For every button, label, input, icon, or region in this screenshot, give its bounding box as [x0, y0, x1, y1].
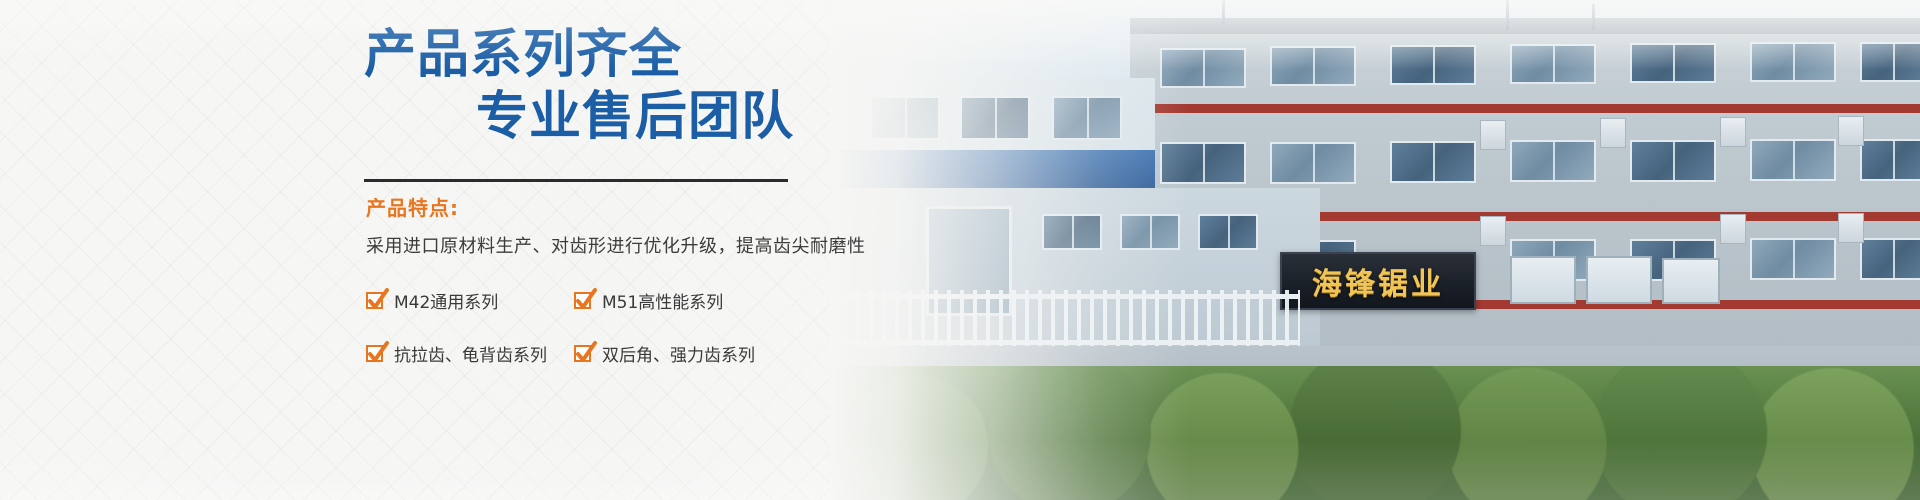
window	[1390, 45, 1476, 85]
air-conditioner-unit	[1720, 214, 1746, 244]
window	[1160, 142, 1246, 184]
list-item-label: 抗拉齿、龟背齿系列	[394, 341, 547, 366]
air-conditioner-unit	[1480, 216, 1506, 246]
checkbox-checked-icon	[574, 292, 591, 309]
list-item: M51高性能系列	[574, 288, 796, 313]
rooftop-pole	[1222, 0, 1225, 24]
notice-board	[1510, 256, 1576, 304]
divider-rule	[364, 179, 788, 182]
checkbox-checked-icon	[366, 292, 383, 309]
company-sign-text: 海锋锯业	[1312, 259, 1444, 303]
window	[1510, 44, 1596, 84]
window	[1390, 141, 1476, 183]
window	[870, 96, 940, 140]
checkbox-checked-icon	[574, 345, 591, 362]
annex-blue-band	[840, 150, 1155, 188]
window	[1630, 43, 1716, 83]
notice-board	[1662, 258, 1720, 304]
window	[1860, 139, 1920, 181]
window	[1270, 142, 1356, 184]
window	[1750, 42, 1836, 82]
fence-rail-bottom	[830, 340, 1300, 345]
window	[1270, 46, 1356, 86]
list-item: M42通用系列	[366, 288, 574, 313]
air-conditioner-unit	[1720, 117, 1746, 147]
rooftop-pole	[1506, 0, 1509, 30]
window	[1750, 139, 1836, 181]
banner-content: 产品系列齐全 专业售后团队 产品特点: 采用进口原材料生产、对齿形进行优化升级，…	[0, 0, 860, 500]
checkbox-checked-icon	[366, 345, 383, 362]
window	[1042, 214, 1102, 250]
feature-label: 产品特点:	[366, 192, 459, 221]
fence-rail-top	[830, 294, 1300, 299]
main-building-roof	[1130, 18, 1920, 34]
window	[1860, 42, 1920, 82]
window	[960, 96, 1030, 140]
list-item: 双后角、强力齿系列	[574, 341, 796, 366]
window	[1860, 238, 1920, 280]
window	[1052, 96, 1122, 140]
headline-line-1: 产品系列齐全	[364, 24, 794, 86]
air-conditioner-unit	[1480, 120, 1506, 150]
headline: 产品系列齐全 专业售后团队	[364, 24, 794, 148]
list-item: 抗拉齿、龟背齿系列	[366, 341, 574, 366]
window	[1750, 238, 1836, 280]
promo-banner: 海锋锯业 产品系列齐全 专业售后团队 产品特点: 采用进口原材料生产、对齿形进行…	[0, 0, 1920, 500]
hedge-shading	[830, 366, 1920, 500]
window	[1510, 140, 1596, 182]
window	[1120, 214, 1180, 250]
rooftop-pole	[1592, 4, 1595, 30]
feature-bullet-list: M42通用系列 M51高性能系列 抗拉齿、龟背齿系列	[366, 288, 796, 366]
air-conditioner-unit	[1838, 116, 1864, 146]
notice-board	[1586, 256, 1652, 304]
air-conditioner-unit	[1838, 213, 1864, 243]
window	[1198, 214, 1258, 250]
air-conditioner-unit	[1600, 118, 1626, 148]
window	[1630, 140, 1716, 182]
list-item-label: 双后角、强力齿系列	[602, 341, 755, 366]
company-sign: 海锋锯业	[1280, 252, 1476, 310]
list-item-label: M42通用系列	[394, 288, 498, 313]
window	[1160, 48, 1246, 88]
headline-line-2: 专业售后团队	[364, 86, 794, 148]
facade-red-band-1	[1130, 104, 1920, 113]
photo-base: 海锋锯业	[830, 0, 1920, 500]
feature-description: 采用进口原材料生产、对齿形进行优化升级，提高齿尖耐磨性	[366, 232, 866, 258]
list-item-label: M51高性能系列	[602, 288, 723, 313]
factory-photo: 海锋锯业	[830, 0, 1920, 500]
